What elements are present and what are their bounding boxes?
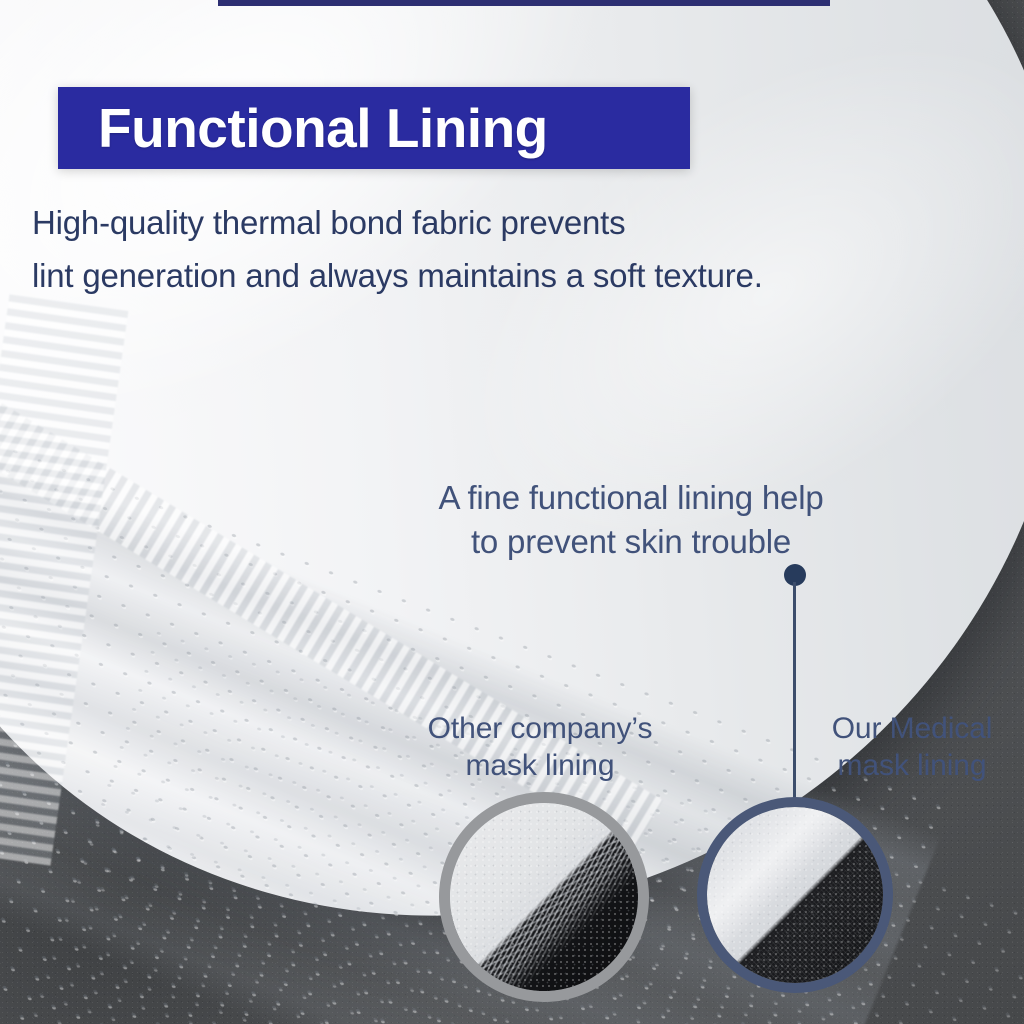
fabric-light-streak <box>707 807 883 983</box>
our-medical-lining-image <box>707 807 883 983</box>
callout-line-2: to prevent skin trouble <box>378 520 884 564</box>
other-company-lining-image <box>450 803 638 991</box>
subtitle-block: High-quality thermal bond fabric prevent… <box>32 196 892 302</box>
our-medical-label-line-1: Our Medical <box>806 710 1018 747</box>
page-title: Functional Lining <box>58 101 548 156</box>
our-medical-lining-closeup <box>697 797 893 993</box>
subtitle-line-1: High-quality thermal bond fabric prevent… <box>32 196 892 249</box>
product-feature-poster: Functional Lining High-quality thermal b… <box>0 0 1024 1024</box>
pointer-leader-line <box>793 582 796 804</box>
callout-line-1: A fine functional lining help <box>378 476 884 520</box>
other-company-lining-closeup <box>439 792 649 1002</box>
our-medical-label-line-2: mask lining <box>806 747 1018 784</box>
callout-headline: A fine functional lining help to prevent… <box>378 476 884 564</box>
subtitle-line-2: lint generation and always maintains a s… <box>32 249 892 302</box>
other-company-label-line-2: mask lining <box>404 747 676 784</box>
other-company-label-line-1: Other company’s <box>404 710 676 747</box>
lint-fibers-texture-secondary <box>450 803 638 991</box>
top-accent-strip <box>218 0 830 6</box>
our-medical-label: Our Medical mask lining <box>806 710 1018 784</box>
title-banner: Functional Lining <box>58 87 690 169</box>
other-company-label: Other company’s mask lining <box>404 710 676 784</box>
